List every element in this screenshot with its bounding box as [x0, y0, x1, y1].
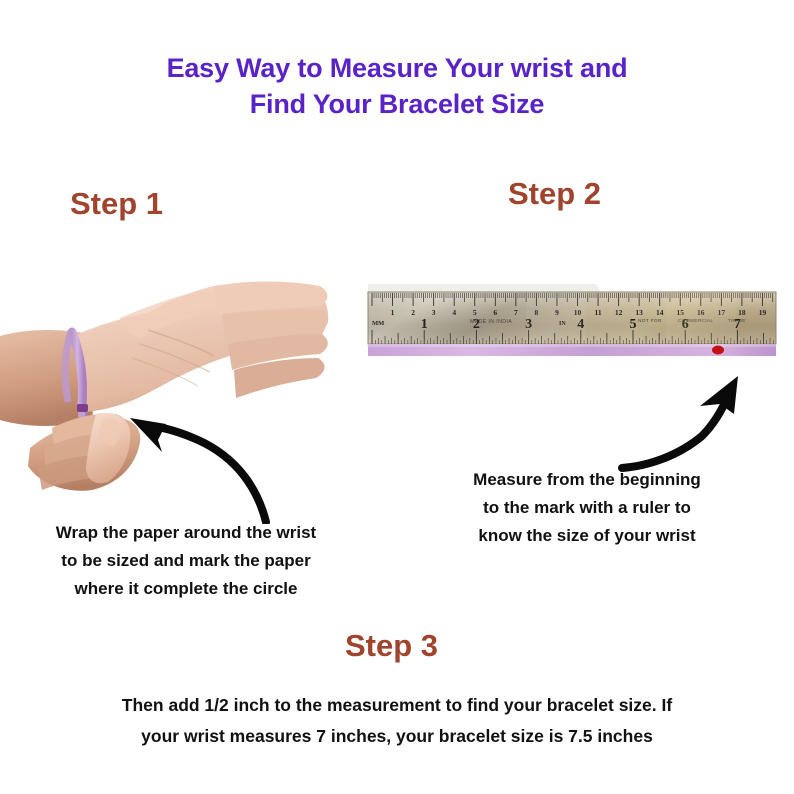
step-2-caption-line-1: Measure from the beginning [414, 466, 760, 494]
title-line-2: Find Your Bracelet Size [0, 86, 794, 122]
svg-text:4: 4 [452, 308, 456, 317]
infographic-page: Easy Way to Measure Your wrist and Find … [0, 0, 794, 794]
page-title: Easy Way to Measure Your wrist and Find … [0, 50, 794, 122]
step-3-caption-line-2: your wrist measures 7 inches, your brace… [57, 721, 737, 752]
svg-text:19: 19 [759, 308, 767, 317]
step-1-caption: Wrap the paper around the wrist to be si… [6, 519, 366, 603]
step-1-heading: Step 1 [70, 186, 163, 222]
ruler-brand-text: MADE IN INDIA [470, 319, 512, 325]
curved-arrow-left-icon [118, 404, 278, 524]
svg-text:7: 7 [514, 308, 518, 317]
curved-arrow-up-right-icon [618, 358, 778, 476]
svg-text:14: 14 [656, 308, 664, 317]
step-3-caption-line-1: Then add 1/2 inch to the measurement to … [57, 690, 737, 721]
ruler-notice-1: NOT FOR [638, 318, 662, 324]
paper-mark [77, 404, 88, 412]
step-3-heading: Step 3 [345, 628, 438, 664]
svg-text:1: 1 [421, 317, 428, 332]
step-2-caption-line-2: to the mark with a ruler to [414, 494, 760, 522]
title-line-1: Easy Way to Measure Your wrist and [167, 53, 628, 83]
svg-text:1: 1 [391, 308, 395, 317]
step-1-caption-line-3: where it complete the circle [6, 575, 366, 603]
measurement-mark [712, 346, 724, 355]
step-2-photo: 12345678910111213141516171819 1234567 MM… [366, 278, 778, 364]
step-2-caption: Measure from the beginning to the mark w… [414, 466, 760, 550]
svg-text:12: 12 [615, 308, 623, 317]
svg-text:18: 18 [738, 308, 746, 317]
step-2-caption-line-3: know the size of your wrist [414, 522, 760, 550]
svg-text:2: 2 [411, 308, 415, 317]
svg-text:13: 13 [635, 308, 643, 317]
svg-text:6: 6 [493, 308, 497, 317]
step-2-heading: Step 2 [508, 176, 601, 212]
ruler-metric-unit: MM [372, 320, 384, 327]
step-1-caption-line-1: Wrap the paper around the wrist [6, 519, 366, 547]
step-3-caption: Then add 1/2 inch to the measurement to … [57, 690, 737, 752]
step-1-caption-line-2: to be sized and mark the paper [6, 547, 366, 575]
svg-text:5: 5 [473, 308, 477, 317]
svg-text:5: 5 [630, 317, 637, 332]
svg-text:3: 3 [432, 308, 436, 317]
svg-text:11: 11 [595, 308, 602, 317]
